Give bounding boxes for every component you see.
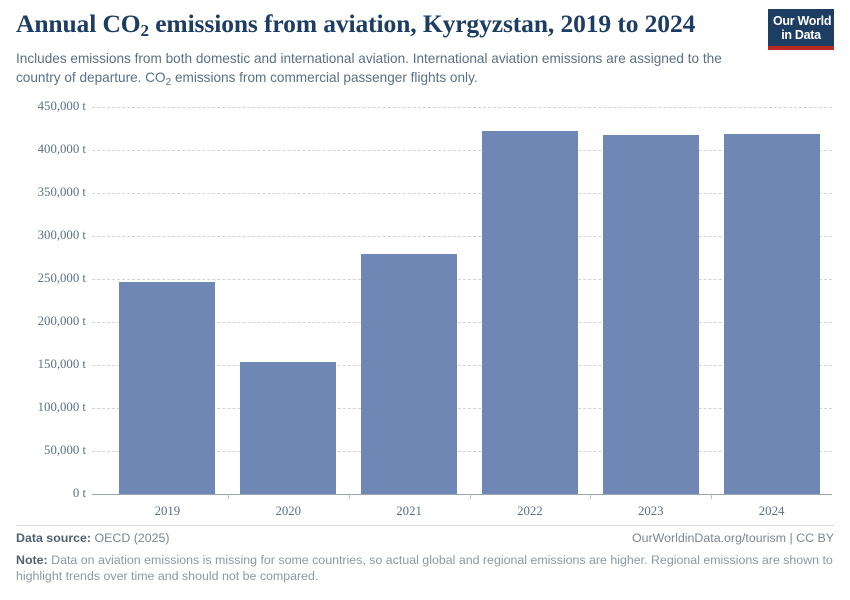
- x-axis-tick-label-2019: 2019: [112, 504, 222, 519]
- gridline: [92, 193, 832, 194]
- x-axis-tick: [470, 494, 471, 499]
- x-axis-line: [92, 494, 832, 495]
- y-axis-tick-label: 300,000 t: [0, 229, 86, 242]
- x-axis-tick-label-2022: 2022: [475, 504, 585, 519]
- y-axis-tick-label: 350,000 t: [0, 186, 86, 199]
- gridline: [92, 107, 832, 108]
- x-axis-tick: [228, 494, 229, 499]
- y-axis-tick-label: 200,000 t: [0, 315, 86, 328]
- bar-2023[interactable]: [603, 135, 699, 494]
- y-axis-tick-label: 150,000 t: [0, 358, 86, 371]
- y-axis-tick-label: 50,000 t: [0, 444, 86, 457]
- x-axis-tick: [711, 494, 712, 499]
- data-source: Data source: OECD (2025): [16, 531, 170, 545]
- x-axis-tick-label-2024: 2024: [717, 504, 827, 519]
- footer-note-label: Note:: [16, 553, 48, 567]
- attribution-link[interactable]: OurWorldinData.org/tourism | CC BY: [632, 531, 834, 545]
- x-axis-tick-label-2020: 2020: [233, 504, 343, 519]
- gridline: [92, 279, 832, 280]
- y-axis-tick-label: 400,000 t: [0, 143, 86, 156]
- bar-2020[interactable]: [240, 362, 336, 494]
- data-source-value: OECD (2025): [91, 531, 170, 545]
- bar-2024[interactable]: [724, 134, 820, 494]
- y-axis-tick-label: 0 t: [0, 487, 86, 500]
- y-axis-tick-label: 250,000 t: [0, 272, 86, 285]
- data-source-label: Data source:: [16, 531, 91, 545]
- y-axis-tick-label: 450,000 t: [0, 100, 86, 113]
- footer-note: Note: Data on aviation emissions is miss…: [16, 552, 834, 584]
- x-axis-tick-label-2023: 2023: [596, 504, 706, 519]
- x-axis-tick: [590, 494, 591, 499]
- gridline: [92, 236, 832, 237]
- bar-2019[interactable]: [119, 282, 215, 494]
- footer-divider: [16, 525, 834, 526]
- bar-2021[interactable]: [361, 254, 457, 494]
- x-axis-tick-label-2021: 2021: [354, 504, 464, 519]
- plot-area: 0 t50,000 t100,000 t150,000 t200,000 t25…: [0, 0, 850, 600]
- footer-note-value: Data on aviation emissions is missing fo…: [16, 553, 833, 583]
- x-axis-tick: [349, 494, 350, 499]
- y-axis-tick-label: 100,000 t: [0, 401, 86, 414]
- bar-2022[interactable]: [482, 131, 578, 494]
- chart-container: Annual CO2 emissions from aviation, Kyrg…: [0, 0, 850, 600]
- gridline: [92, 150, 832, 151]
